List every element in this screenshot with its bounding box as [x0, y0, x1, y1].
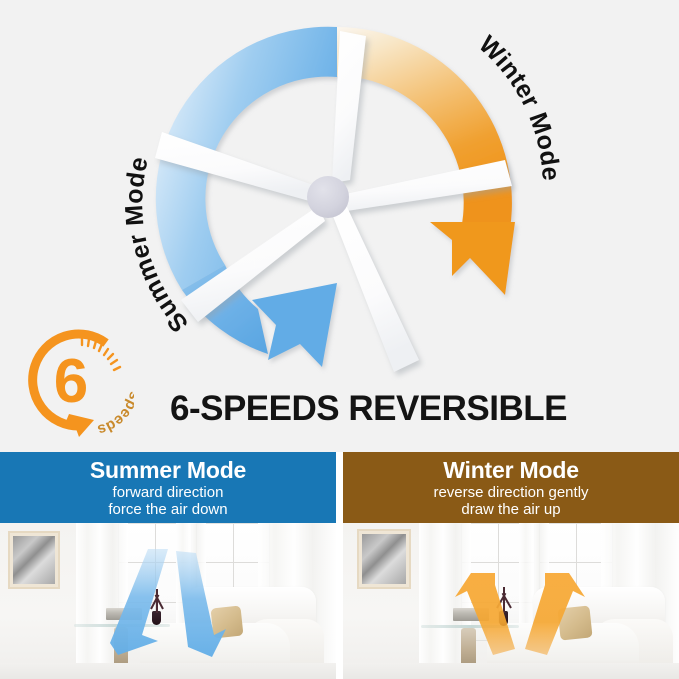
page-title: 6-SPEEDS REVERSIBLE: [0, 388, 679, 430]
winter-mode-header: Winter Mode reverse direction gently dra…: [343, 452, 679, 523]
infographic-page: Summer Mode Winter Mode: [0, 0, 679, 679]
summer-mode-panel: Summer Mode forward direction force the …: [0, 452, 336, 679]
winter-mode-subtitle-line2: draw the air up: [343, 501, 679, 518]
summer-mode-subtitle-line2: force the air down: [0, 501, 336, 518]
fan-hub: [307, 176, 349, 218]
column-divider: [336, 452, 343, 679]
summer-room-photo: [0, 523, 336, 679]
summer-mode-title: Summer Mode: [0, 456, 336, 484]
winter-airflow-arrows: [343, 523, 679, 679]
summer-mode-subtitle-line1: forward direction: [0, 484, 336, 501]
winter-mode-panel: Winter Mode reverse direction gently dra…: [343, 452, 679, 679]
summer-mode-header: Summer Mode forward direction force the …: [0, 452, 336, 523]
winter-mode-title: Winter Mode: [343, 456, 679, 484]
hero-fan-diagram: Summer Mode Winter Mode: [0, 0, 679, 452]
winter-mode-subtitle-line1: reverse direction gently: [343, 484, 679, 501]
summer-airflow-arrows: [0, 523, 336, 679]
winter-room-photo: [343, 523, 679, 679]
